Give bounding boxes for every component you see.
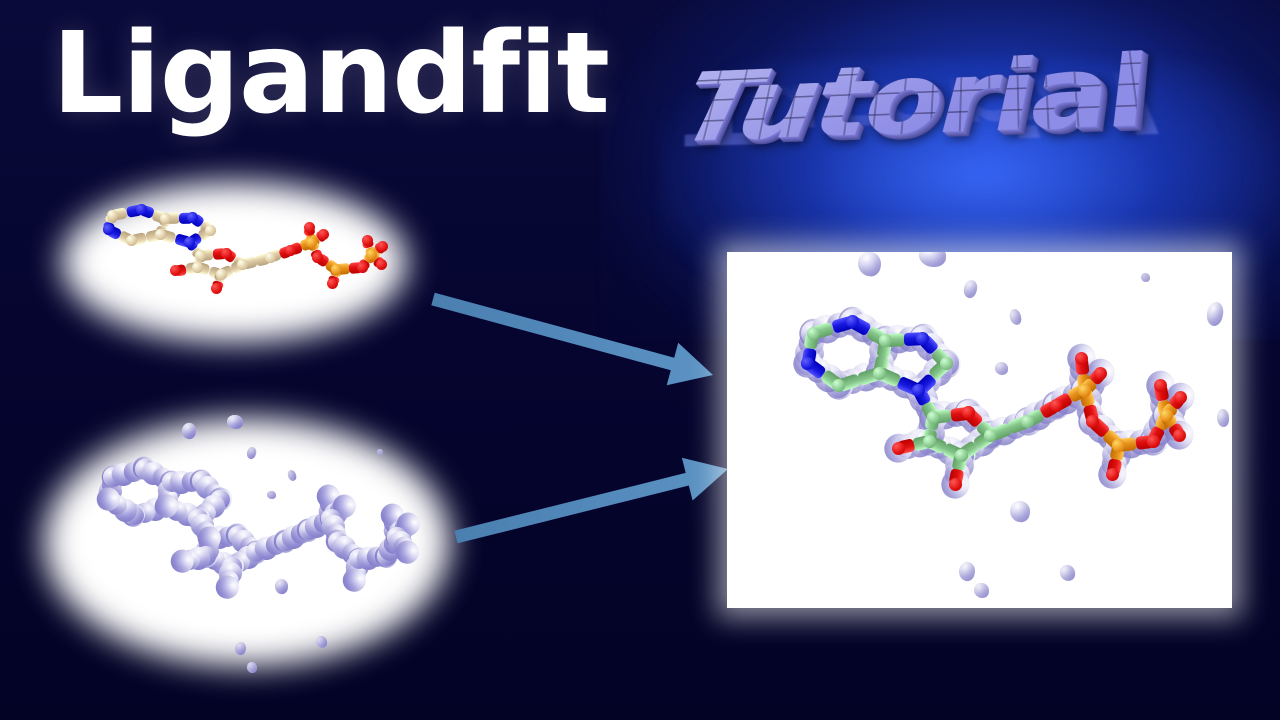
slide-canvas: Ligandfit Tutorial Tutorial Tutorial — [0, 0, 1280, 720]
atom — [955, 449, 968, 462]
arrow-ligand-to-result — [425, 285, 725, 395]
atom — [1094, 367, 1107, 380]
density-blob — [377, 449, 383, 455]
atom — [1160, 409, 1173, 422]
atom — [879, 334, 892, 347]
density-blob — [1008, 308, 1022, 326]
density-blob — [227, 415, 243, 429]
density-blob — [233, 640, 247, 655]
atom — [318, 229, 329, 240]
density-blob — [856, 252, 882, 278]
atom — [136, 204, 147, 215]
atom — [357, 262, 368, 273]
density-blob — [181, 422, 198, 441]
density-blob — [919, 252, 947, 267]
atom — [923, 435, 936, 448]
atom — [265, 252, 276, 263]
density-blob — [1217, 409, 1230, 428]
atom — [107, 210, 118, 221]
density-blob — [1141, 273, 1150, 282]
atom — [327, 278, 338, 289]
atom — [1174, 391, 1187, 404]
atom — [873, 367, 886, 380]
page-title: Ligandfit — [52, 18, 609, 130]
atom — [376, 259, 387, 270]
atom — [377, 241, 388, 252]
density-blob — [274, 578, 289, 595]
density-blob — [286, 469, 297, 482]
atom — [304, 222, 315, 233]
atom — [192, 262, 203, 273]
atom — [362, 235, 373, 246]
density-blob — [995, 362, 1009, 375]
atom — [221, 248, 232, 259]
atom — [126, 235, 137, 246]
atom — [1106, 468, 1119, 481]
atom — [927, 411, 940, 424]
tutorial-label: Tutorial — [668, 33, 1247, 167]
density-blob — [315, 636, 328, 650]
atom — [807, 327, 820, 340]
atom — [1147, 435, 1160, 448]
atom — [1078, 384, 1091, 397]
atom — [1050, 399, 1063, 412]
atom — [216, 269, 227, 280]
density-blob — [245, 445, 258, 459]
atom — [801, 357, 814, 370]
atom — [1086, 415, 1099, 428]
density-blob — [958, 560, 978, 582]
density-blob — [267, 491, 276, 499]
atom — [912, 384, 925, 397]
fitted-ligand-in-density — [727, 252, 1232, 608]
atom — [103, 224, 114, 235]
density-blob — [1008, 500, 1031, 524]
atom — [949, 478, 962, 491]
density-blob — [974, 583, 989, 598]
result-panel — [727, 252, 1232, 608]
electron-density-isosurface — [44, 418, 450, 678]
atom — [846, 315, 859, 328]
ligand-stick-model — [62, 182, 407, 342]
density-blob — [962, 279, 979, 300]
atom — [211, 283, 222, 294]
density-blob — [1059, 564, 1076, 582]
atom — [205, 225, 216, 236]
arrow-density-to-result — [448, 455, 738, 555]
density-blob — [247, 662, 257, 673]
tutorial-3d-text: Tutorial Tutorial Tutorial — [648, 8, 1248, 258]
density-blob — [1204, 300, 1226, 327]
